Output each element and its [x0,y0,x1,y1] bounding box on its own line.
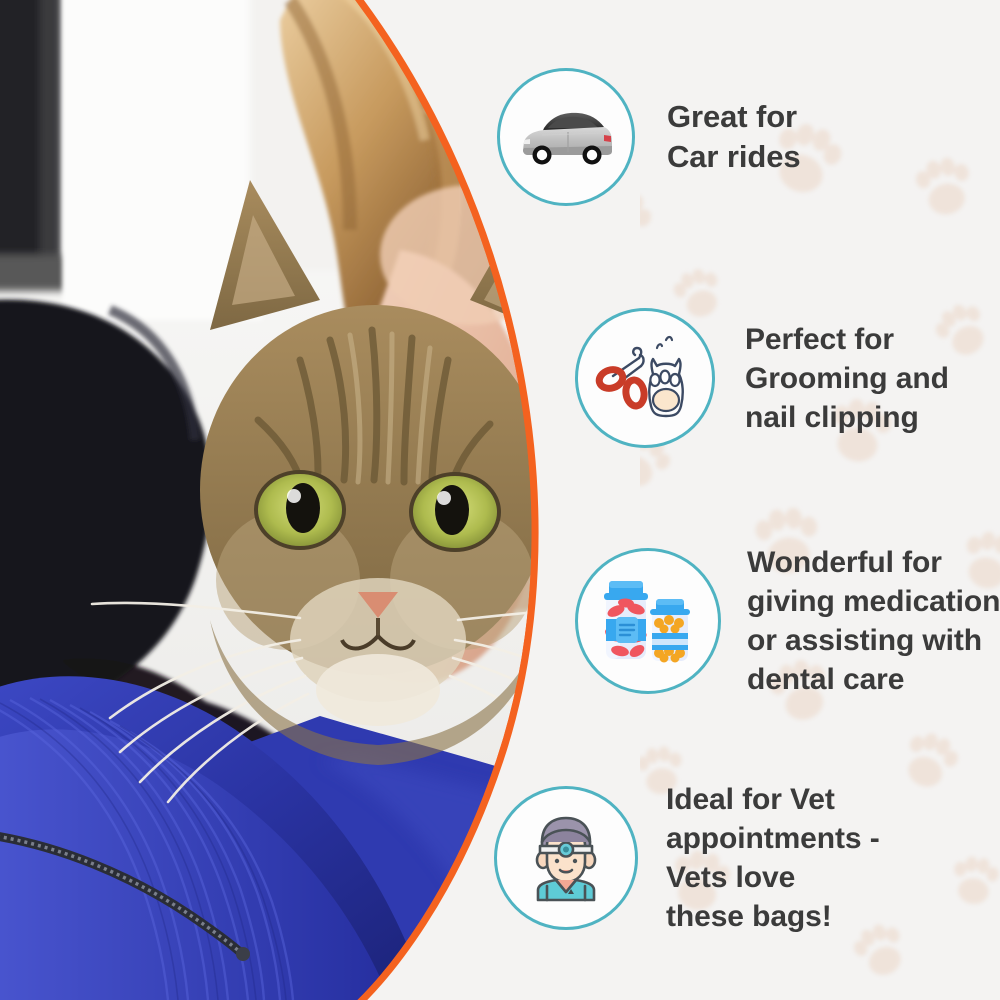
feature-row-medication: Wonderful for giving medication or assis… [575,548,1000,694]
nail-clippers-paw-icon [595,332,695,424]
car-icon [518,102,614,172]
feature-label: Great for Car rides [667,97,801,176]
feature-label: Perfect for Grooming and nail clipping [745,320,949,437]
veterinarian-icon [516,808,616,908]
feature-icon-circle [497,68,635,206]
feature-row-vet: Ideal for Vet appointments - Vets love t… [494,786,964,930]
infographic-page: Great for Car rides [0,0,1000,1000]
feature-row-grooming: Perfect for Grooming and nail clipping [575,308,995,448]
feature-row-car: Great for Car rides [497,68,977,206]
feature-icon-circle [575,308,715,448]
feature-label: Wonderful for giving medication or assis… [747,543,1000,699]
feature-icon-circle [575,548,721,694]
feature-icon-circle [494,786,638,930]
feature-label: Ideal for Vet appointments - Vets love t… [666,780,880,936]
medication-bottles-icon [596,573,700,669]
